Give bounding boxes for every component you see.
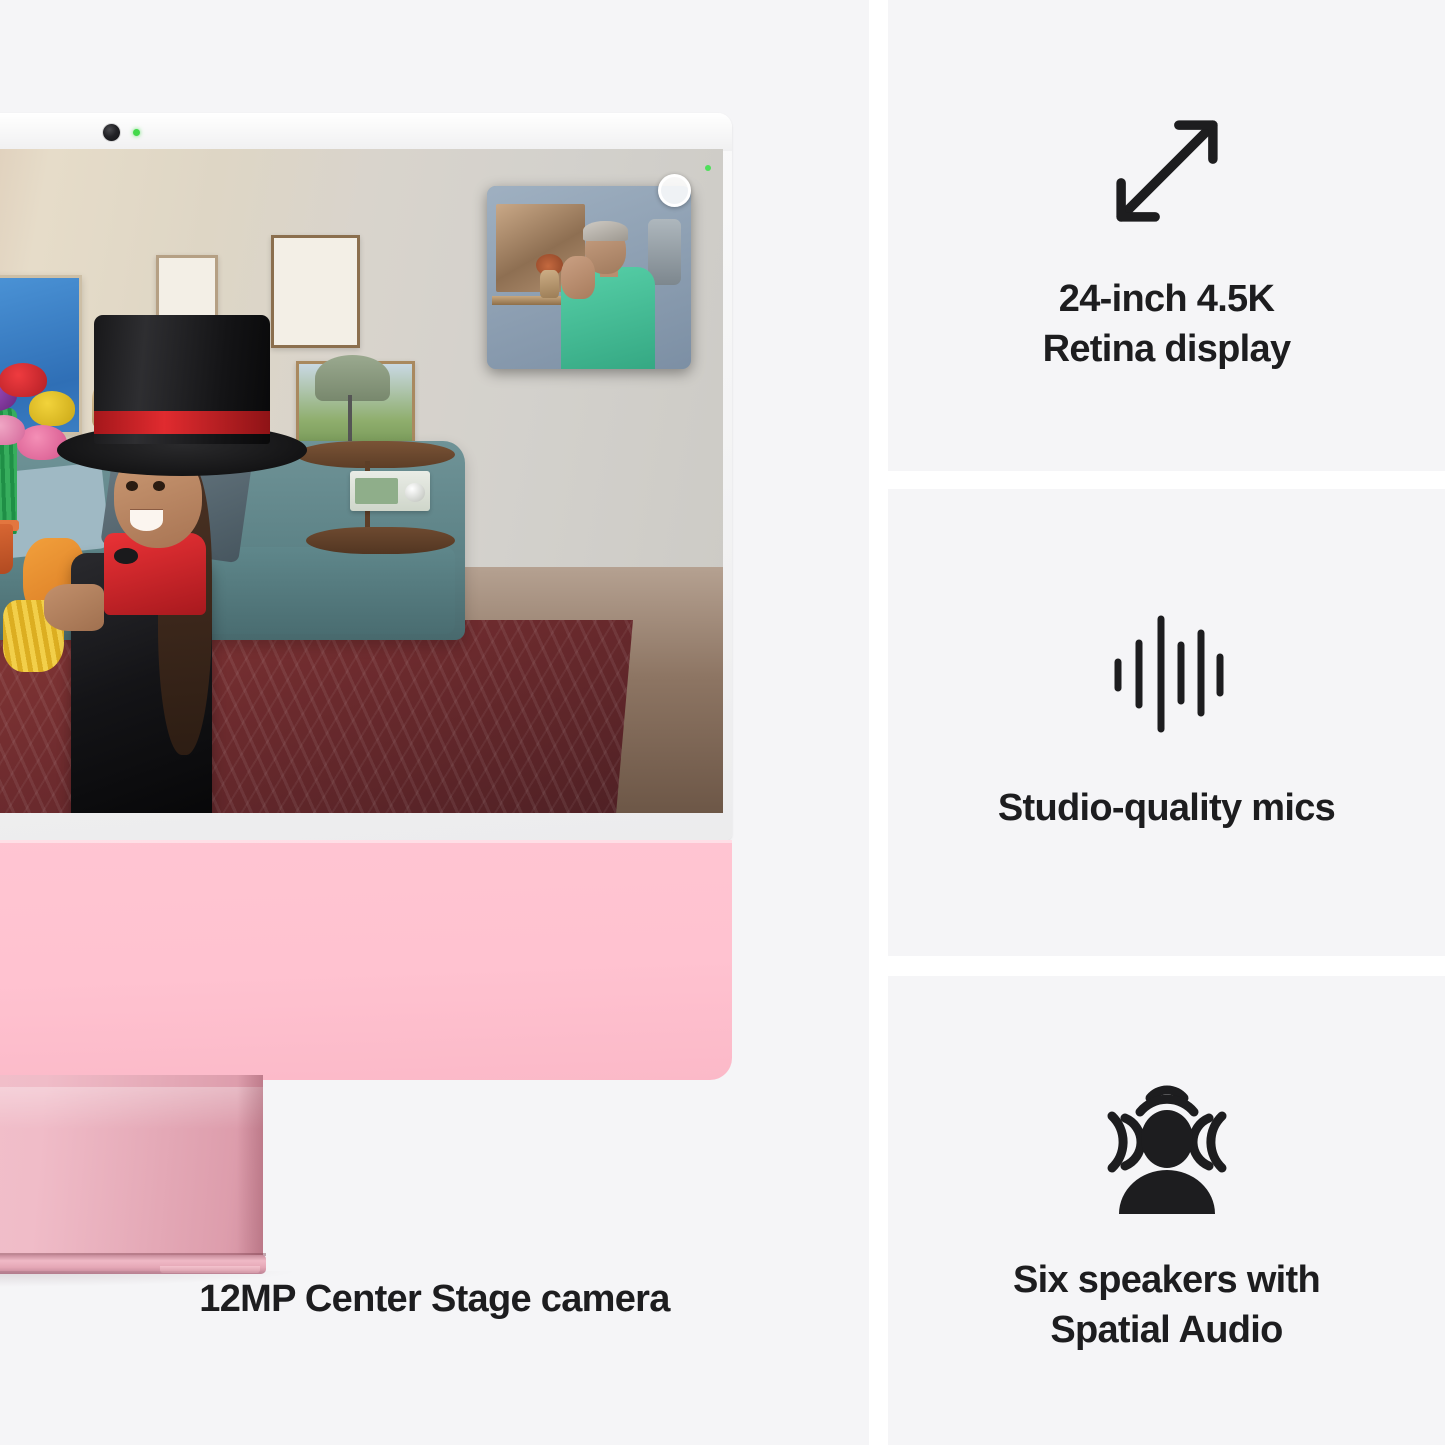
imac-screen <box>0 149 723 813</box>
screen-recording-led-icon <box>705 165 711 171</box>
speakers-feature-card: Six speakers with Spatial Audio <box>888 976 1445 1445</box>
imac-stand-highlight <box>0 1087 263 1129</box>
mics-feature-label: Studio-quality mics <box>998 784 1335 833</box>
speakers-feature-label: Six speakers with Spatial Audio <box>1013 1256 1320 1355</box>
magician-cape-tie <box>114 548 138 564</box>
display-feature-label-line1: 24-inch 4.5K <box>1043 275 1291 324</box>
display-feature-label: 24-inch 4.5K Retina display <box>1043 275 1291 374</box>
camera-feature-label: 12MP Center Stage camera <box>0 1278 869 1321</box>
display-feature-label-line2: Retina display <box>1043 325 1291 374</box>
camera-feature-card: 12MP Center Stage camera <box>0 0 869 1445</box>
pip-vase <box>540 270 558 297</box>
pip-lamp <box>648 219 681 285</box>
scene-radio-knob <box>405 483 425 502</box>
scene-child-magician <box>57 315 395 813</box>
display-feature-card: 24-inch 4.5K Retina display <box>888 0 1445 471</box>
pip-person-hair <box>583 221 628 241</box>
imac-stand-shadow <box>237 1075 263 1265</box>
mics-feature-card: Studio-quality mics <box>888 489 1445 956</box>
feature-cards-column: 24-inch 4.5K Retina display Studio-quali… <box>888 0 1445 1445</box>
magician-top-hat-band <box>94 411 270 434</box>
audio-waveform-icon <box>1105 612 1229 736</box>
speakers-feature-label-line2: Spatial Audio <box>1013 1306 1320 1355</box>
spatial-audio-person-icon <box>1092 1066 1242 1216</box>
speakers-feature-label-line1: Six speakers with <box>1013 1256 1320 1305</box>
mics-feature-label-line1: Studio-quality mics <box>998 784 1335 833</box>
imac-chin <box>0 840 732 1080</box>
magician-smile <box>130 509 164 531</box>
pip-window[interactable] <box>487 186 691 369</box>
pip-person-hand <box>561 256 596 300</box>
magician-eye <box>126 481 137 491</box>
imac-chin-highlight <box>0 840 732 843</box>
diagonal-resize-arrows-icon <box>1093 97 1241 245</box>
facetime-video-scene <box>0 149 723 813</box>
imac-device <box>0 113 732 1163</box>
product-feature-grid: 12MP Center Stage camera 24-inch 4.5K Re… <box>0 0 1445 1445</box>
camera-icon <box>103 124 120 141</box>
magician-eye <box>153 481 164 491</box>
imac-display-enclosure <box>0 113 732 840</box>
magician-arm <box>44 584 105 631</box>
scene-flower-pot <box>0 524 13 574</box>
camera-indicator-led-icon <box>133 129 140 136</box>
imac-stand <box>0 1075 263 1265</box>
